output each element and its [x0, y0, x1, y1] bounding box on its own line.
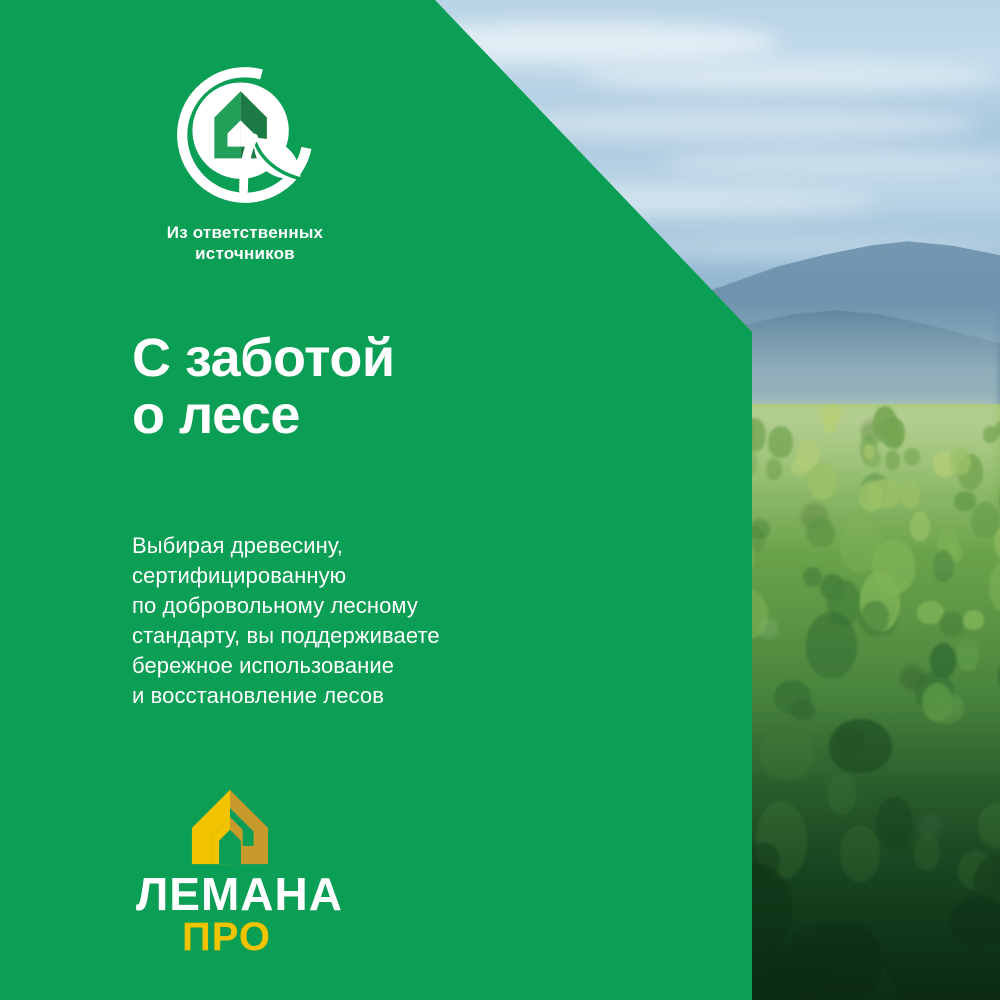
promo-poster: Из ответственных источников С заботой о …	[0, 0, 1000, 1000]
certification-badge: Из ответственных источников	[132, 62, 382, 264]
page-title: С заботой о лесе	[132, 330, 395, 444]
brand-logo: ЛЕМАНА ПРО	[136, 788, 366, 958]
brand-name: ЛЕМАНА	[136, 870, 366, 918]
brand-subname: ПРО	[182, 916, 366, 958]
certification-caption: Из ответственных источников	[132, 222, 358, 264]
certification-caption-line2: источников	[132, 243, 358, 264]
house-logo-icon	[184, 788, 276, 866]
responsible-sources-mark-icon	[172, 62, 318, 208]
poster-content: Из ответственных источников С заботой о …	[0, 0, 1000, 1000]
body-copy: Выбирая древесину, сертифицированную по …	[132, 531, 440, 711]
certification-caption-line1: Из ответственных	[132, 222, 358, 243]
